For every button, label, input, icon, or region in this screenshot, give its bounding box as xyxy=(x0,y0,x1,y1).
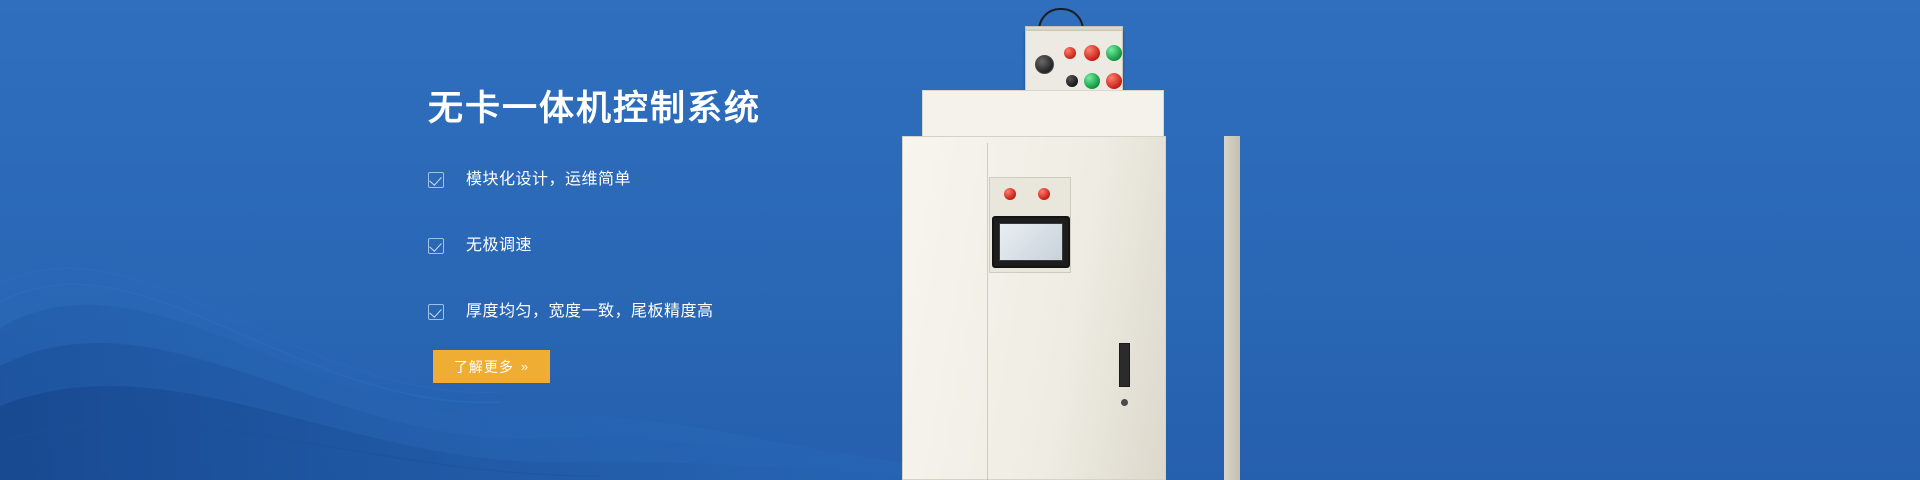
indicator-lamp-red xyxy=(1064,47,1076,59)
push-button-green xyxy=(1106,45,1122,61)
cabinet-door-seam xyxy=(987,143,988,480)
hmi-screen-surface xyxy=(999,223,1063,261)
push-button-green-2 xyxy=(1084,73,1100,89)
panel-screw xyxy=(1121,399,1128,406)
feature-label: 模块化设计，运维简单 xyxy=(466,170,631,190)
card-slot xyxy=(1119,343,1130,387)
hmi-screen xyxy=(992,216,1070,268)
product-image xyxy=(900,0,1240,480)
hmi-button-red-1 xyxy=(1004,188,1016,200)
push-button-red-2 xyxy=(1106,73,1122,89)
check-square-icon xyxy=(428,172,444,188)
learn-more-label: 了解更多 xyxy=(454,357,514,377)
indicator-lamp-black xyxy=(1066,75,1078,87)
check-square-icon xyxy=(428,238,444,254)
cabinet-body xyxy=(902,136,1166,480)
control-panel-box xyxy=(1025,30,1123,98)
check-square-icon xyxy=(428,304,444,320)
selector-knob-icon xyxy=(1035,55,1054,74)
hmi-button-red-2 xyxy=(1038,188,1050,200)
chevron-right-icon: » xyxy=(521,359,529,374)
hero-banner: 无卡一体机控制系统 模块化设计，运维简单 无极调速 厚度均匀，宽度一致，尾板精度… xyxy=(0,0,1920,480)
learn-more-button[interactable]: 了解更多 » xyxy=(433,350,550,383)
feature-label: 无极调速 xyxy=(466,236,532,256)
push-button-red xyxy=(1084,45,1100,61)
cabinet-hood xyxy=(922,90,1164,138)
hmi-panel xyxy=(989,177,1071,273)
feature-label: 厚度均匀，宽度一致，尾板精度高 xyxy=(466,302,714,322)
cabinet-side-edge xyxy=(1224,136,1240,480)
